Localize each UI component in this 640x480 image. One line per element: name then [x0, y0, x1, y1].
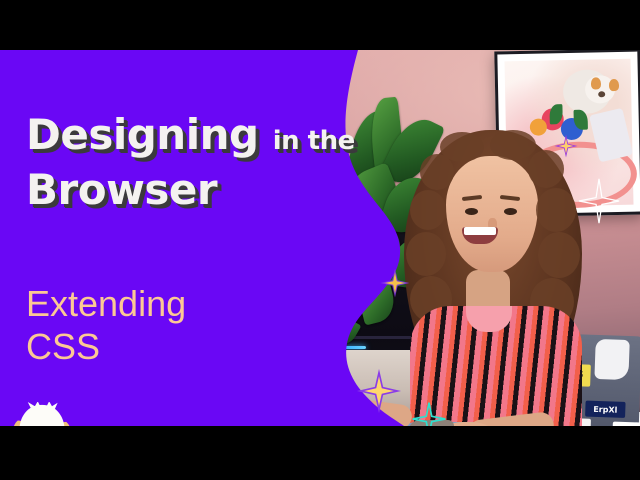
subtitle-line-2: CSS [26, 325, 186, 368]
subtitle-line-1: Extending [26, 282, 186, 325]
letterbox-top [0, 0, 640, 50]
title-suffix: in the [273, 126, 355, 156]
shelf-neon-light [340, 346, 366, 349]
title-line-1: Designing in the [26, 112, 386, 164]
title-main: Designing [26, 110, 259, 159]
dog-mascot-logo [6, 402, 78, 426]
video-thumbnail: JS ErpXl CEN ctrl [0, 0, 640, 480]
video-frame: JS ErpXl CEN ctrl [0, 50, 640, 426]
presenter [380, 120, 630, 426]
subtitle-block: Extending CSS [26, 282, 186, 368]
eye [465, 208, 478, 215]
title-line-2: Browser [26, 164, 386, 216]
eye [504, 208, 517, 215]
letterbox-bottom [0, 426, 640, 480]
title-block: Designing in the Browser [26, 112, 386, 216]
